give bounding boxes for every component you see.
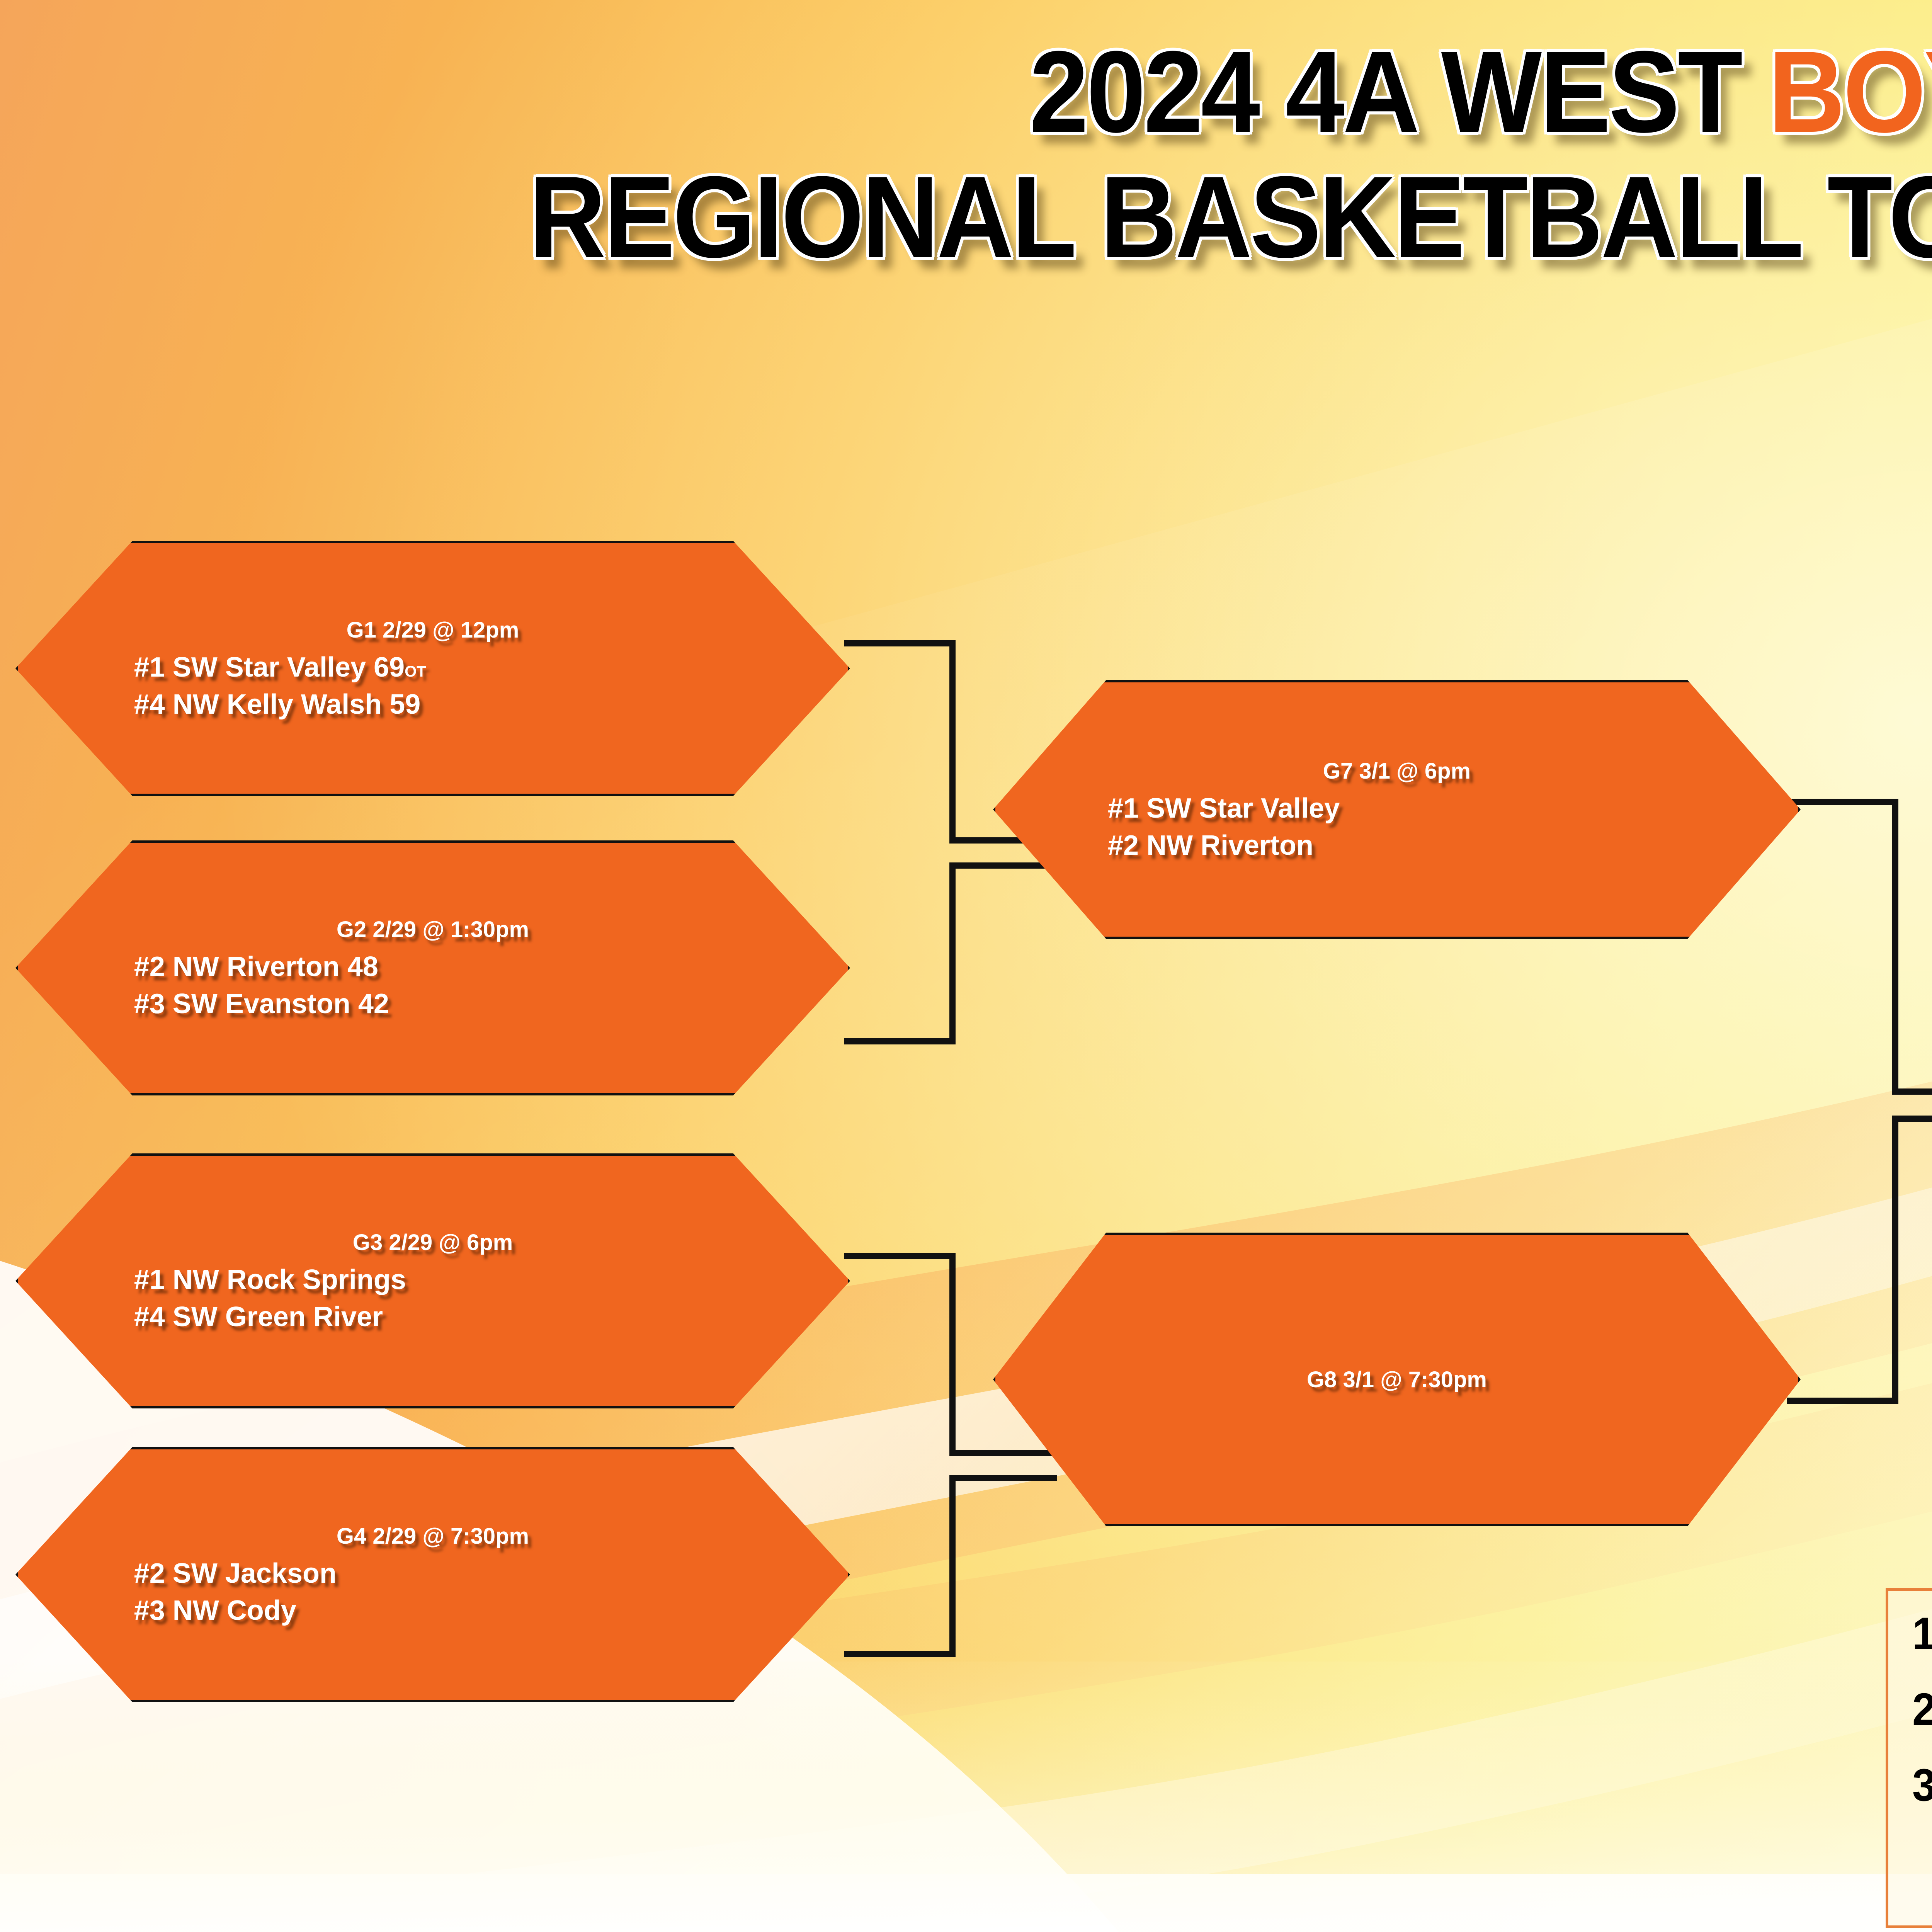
- connector-g7-g8-to-g12: [1785, 792, 1932, 1410]
- g2-header: G2 2/29 @ 1:30pm: [18, 917, 848, 942]
- connector-g3-g4-to-g8: [842, 1246, 1059, 1663]
- g7-team-1: #1 SW Star Valley: [995, 793, 1798, 824]
- placement-2nd-number: 2: [1912, 1684, 1932, 1735]
- g7-header: G7 3/1 @ 6pm: [995, 758, 1798, 784]
- placement-row-3rd: 3RDPLACE: [1912, 1762, 1932, 1808]
- g1-team-2: #4 NW Kelly Walsh 59: [18, 689, 848, 720]
- g4-header: G4 2/29 @ 7:30pm: [18, 1523, 848, 1549]
- placement-3rd-number: 3: [1912, 1760, 1932, 1811]
- game-box-g7[interactable]: G7 3/1 @ 6pm #1 SW Star Valley #2 NW Riv…: [993, 680, 1801, 939]
- g7-team-2: #2 NW Riverton: [995, 830, 1798, 861]
- g2-team-1: #2 NW Riverton 48: [18, 951, 848, 983]
- game-box-g2[interactable]: G2 2/29 @ 1:30pm #2 NW Riverton 48 #3 SW…: [15, 840, 850, 1095]
- placement-row-1st: 1STPLACE: [1912, 1611, 1932, 1656]
- g3-team-2: #4 SW Green River: [18, 1301, 848, 1333]
- game-box-g1[interactable]: G1 2/29 @ 12pm #1 SW Star Valley 69OT #4…: [15, 541, 850, 796]
- game-box-g3[interactable]: G3 2/29 @ 6pm #1 NW Rock Springs #4 SW G…: [15, 1153, 850, 1408]
- placement-1st-number: 1: [1912, 1608, 1932, 1659]
- g4-team-1: #2 SW Jackson: [18, 1558, 848, 1589]
- g1-header: G1 2/29 @ 12pm: [18, 617, 848, 643]
- game-box-g4[interactable]: G4 2/29 @ 7:30pm #2 SW Jackson #3 NW Cod…: [15, 1447, 850, 1702]
- g3-team-1: #1 NW Rock Springs: [18, 1264, 848, 1296]
- placement-results-box[interactable]: 1STPLACE 2NDPLACE 3RDPLACE: [1886, 1588, 1932, 1928]
- g3-header: G3 2/29 @ 6pm: [18, 1230, 848, 1255]
- g1-team-1-suffix: OT: [405, 663, 426, 680]
- g2-team-2: #3 SW Evanston 42: [18, 988, 848, 1020]
- g1-team-1: #1 SW Star Valley 69OT: [18, 651, 848, 683]
- placement-row-2nd: 2NDPLACE: [1912, 1687, 1932, 1732]
- g4-team-2: #3 NW Cody: [18, 1595, 848, 1626]
- g8-header: G8 3/1 @ 7:30pm: [995, 1367, 1798, 1393]
- game-box-g8[interactable]: G8 3/1 @ 7:30pm: [993, 1233, 1801, 1526]
